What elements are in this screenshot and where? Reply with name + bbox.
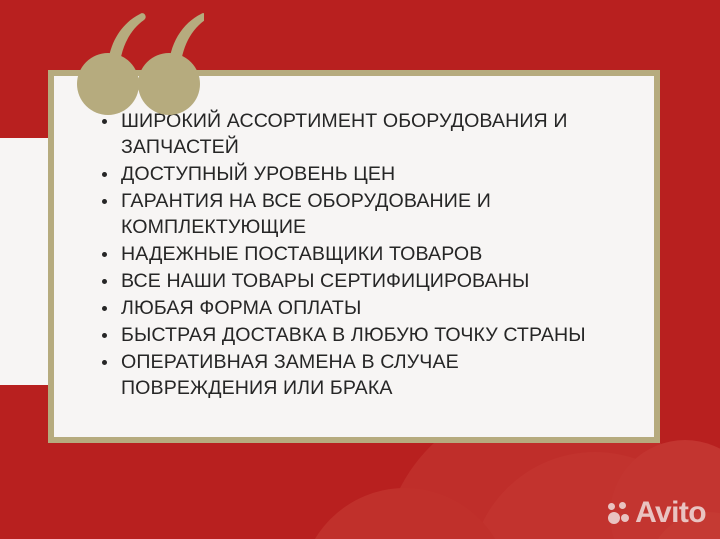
list-item-label: ВСЕ НАШИ ТОВАРЫ СЕРТИФИЦИРОВАНЫ (121, 270, 529, 292)
list-item: ГАРАНТИЯ НА ВСЕ ОБОРУДОВАНИЕ И КОМПЛЕКТУ… (102, 188, 613, 241)
list-item-label: ЛЮБАЯ ФОРМА ОПЛАТЫ (121, 297, 361, 319)
bullet-icon (102, 279, 107, 284)
list-item: БЫСТРАЯ ДОСТАВКА В ЛЮБУЮ ТОЧКУ СТРАНЫ (102, 322, 613, 348)
list-item-label: БЫСТРАЯ ДОСТАВКА В ЛЮБУЮ ТОЧКУ СТРАНЫ (121, 324, 586, 346)
list-item-label: ГАРАНТИЯ НА ВСЕ ОБОРУДОВАНИЕ И КОМПЛЕКТУ… (121, 190, 491, 238)
benefits-list: ШИРОКИЙ АССОРТИМЕНТ ОБОРУДОВАНИЯ И ЗАПЧА… (102, 108, 636, 401)
quote-mark-icon (74, 8, 204, 120)
list-item: ДОСТУПНЫЙ УРОВЕНЬ ЦЕН (102, 161, 613, 187)
promo-poster: ШИРОКИЙ АССОРТИМЕНТ ОБОРУДОВАНИЯ И ЗАПЧА… (0, 0, 720, 539)
bullet-icon (102, 199, 107, 204)
list-item: ВСЕ НАШИ ТОВАРЫ СЕРТИФИЦИРОВАНЫ (102, 268, 613, 294)
bullet-icon (102, 252, 107, 257)
list-item-label: ОПЕРАТИВНАЯ ЗАМЕНА В СЛУЧАЕ ПОВРЕЖДЕНИЯ … (121, 351, 459, 399)
list-item: ЛЮБАЯ ФОРМА ОПЛАТЫ (102, 295, 613, 321)
avito-watermark: Avito (608, 498, 706, 528)
left-white-band (0, 138, 52, 385)
list-item: НАДЕЖНЫЕ ПОСТАВЩИКИ ТОВАРОВ (102, 241, 613, 267)
avito-brand-label: Avito (635, 498, 706, 528)
bullet-icon (102, 333, 107, 338)
benefits-card-inner: ШИРОКИЙ АССОРТИМЕНТ ОБОРУДОВАНИЯ И ЗАПЧА… (54, 76, 654, 437)
list-item-label: НАДЕЖНЫЕ ПОСТАВЩИКИ ТОВАРОВ (121, 243, 482, 265)
bullet-icon (102, 306, 107, 311)
decorative-circle (300, 488, 510, 539)
list-item: ОПЕРАТИВНАЯ ЗАМЕНА В СЛУЧАЕ ПОВРЕЖДЕНИЯ … (102, 349, 613, 402)
list-item-label: ДОСТУПНЫЙ УРОВЕНЬ ЦЕН (121, 163, 395, 185)
benefits-card: ШИРОКИЙ АССОРТИМЕНТ ОБОРУДОВАНИЯ И ЗАПЧА… (48, 70, 660, 443)
bullet-icon (102, 360, 107, 365)
avito-dots-icon (608, 502, 630, 524)
bullet-icon (102, 172, 107, 177)
